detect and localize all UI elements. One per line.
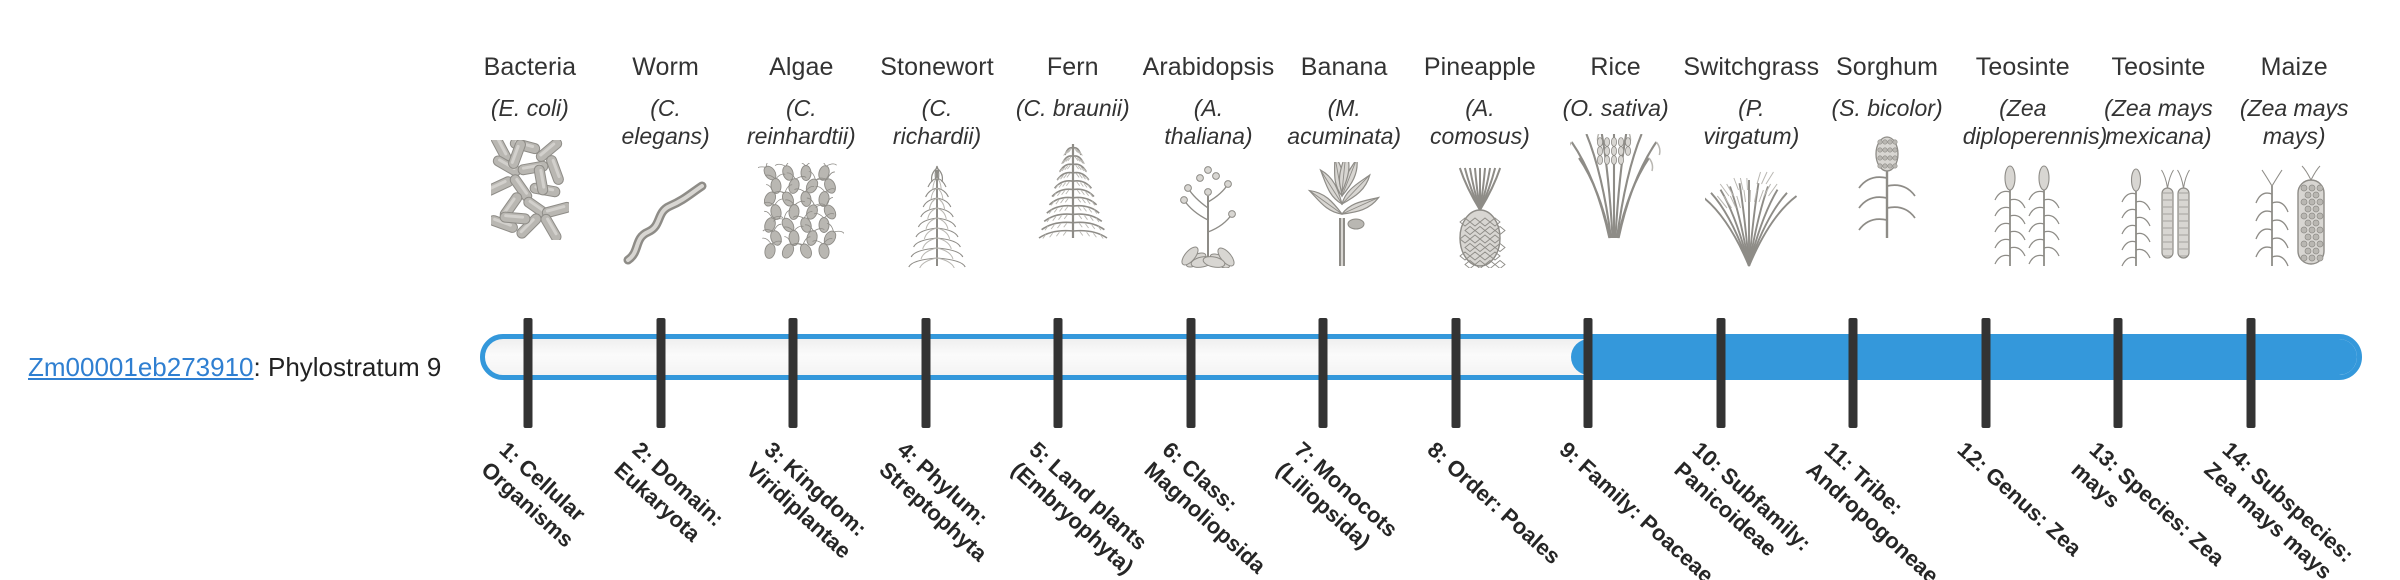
progress-track [480, 334, 2362, 380]
species-latin-name: (C. elegans) [606, 94, 726, 150]
species-column: Sorghum(S. bicolor) [1819, 52, 1955, 240]
maize-illustration [2254, 160, 2334, 268]
species-column: Worm(C. elegans) [598, 52, 734, 268]
species-latin-name: (Zea diploperennis) [1963, 94, 2083, 150]
phylostratum-rank-label: 11: Tribe: Andropogoneae [1801, 436, 1993, 580]
species-column: Teosinte(Zea mays mexicana) [2091, 52, 2227, 268]
gene-id-link[interactable]: Zm00001eb273910 [28, 352, 254, 382]
species-latin-name: (Zea mays mays) [2234, 94, 2354, 150]
phylostratum-rank-label: 1: Cellular Organisms [476, 436, 668, 580]
phylostratum-rank-label: 13: Species: Zea mays [2066, 436, 2258, 580]
species-latin-name: (C. braunii) [1016, 94, 1130, 122]
progress-fill [1571, 339, 2362, 375]
gene-label: Zm00001eb273910: Phylostratum 9 [28, 352, 441, 382]
species-common-name: Fern [1047, 52, 1099, 82]
species-column: Arabidopsis(A. thaliana) [1141, 52, 1277, 268]
pineapple-illustration [1446, 160, 1514, 268]
species-column: Algae(C. reinhardtii) [733, 52, 869, 268]
species-common-name: Pineapple [1424, 52, 1536, 82]
species-column: Switchgrass(P. virgatum) [1683, 52, 1819, 268]
species-latin-name: (S. bicolor) [1831, 94, 1942, 122]
species-common-name: Teosinte [2112, 52, 2206, 82]
species-column: Fern(C. braunii) [1005, 52, 1141, 240]
phylostratum-rank-label: 6: Class: Magnoliopsida [1139, 436, 1331, 580]
species-column: Maize(Zea mays mays) [2226, 52, 2362, 268]
phylostratum-rank-label: 4: Phylum: Streptophyta [874, 436, 1066, 580]
species-common-name: Banana [1301, 52, 1388, 82]
species-column: Teosinte(Zea diploperennis) [1955, 52, 2091, 268]
sorghum-illustration [1847, 132, 1927, 240]
species-column: Bacteria(E. coli) [462, 52, 598, 240]
species-latin-name: (C. richardii) [877, 94, 997, 150]
switchgrass-illustration [1705, 160, 1797, 268]
banana-illustration [1298, 160, 1390, 268]
species-latin-name: (M. acuminata) [1284, 94, 1404, 150]
species-common-name: Stonewort [880, 52, 993, 82]
phylostratum-progress-bar[interactable] [480, 334, 2362, 380]
species-latin-name: (Zea mays mexicana) [2098, 94, 2218, 150]
worm-illustration [618, 160, 714, 268]
teosinte-illustration [1984, 160, 2062, 268]
species-common-name: Bacteria [484, 52, 577, 82]
species-row: Bacteria(E. coli) [462, 52, 2362, 302]
phylostratum-rank-label: 7: Monocots (Liliopsida) [1271, 436, 1463, 580]
phylostratum-figure: Bacteria(E. coli) [0, 0, 2400, 580]
stonewort-illustration [905, 160, 969, 268]
species-latin-name: (O. sativa) [1563, 94, 1669, 122]
species-common-name: Teosinte [1976, 52, 2070, 82]
arabidopsis-illustration [1170, 160, 1246, 268]
algae-illustration [758, 160, 844, 268]
species-column: Banana(M. acuminata) [1276, 52, 1412, 268]
phylostratum-rank-label: 2: Domain: Eukaryota [609, 436, 801, 580]
species-latin-name: (E. coli) [491, 94, 569, 122]
species-latin-name: (C. reinhardtii) [741, 94, 861, 150]
phylostratum-rank-label: 3: Kingdom: Viridiplantae [741, 436, 933, 580]
species-common-name: Worm [632, 52, 699, 82]
species-common-name: Algae [769, 52, 833, 82]
phylostratum-rank-label: 14: Subspecies: Zea mays mays [2199, 436, 2391, 580]
fern-illustration [1033, 132, 1113, 240]
species-common-name: Rice [1590, 52, 1640, 82]
phylostratum-rank-label: 5: Land plants (Embryophyta) [1006, 436, 1198, 580]
rice-illustration [1570, 132, 1662, 240]
species-column: Pineapple(A. comosus) [1412, 52, 1548, 268]
species-common-name: Switchgrass [1683, 52, 1819, 82]
species-column: Stonewort(C. richardii) [869, 52, 1005, 268]
species-common-name: Maize [2261, 52, 2328, 82]
species-latin-name: (A. comosus) [1420, 94, 1540, 150]
teosinte-ear-illustration [2120, 160, 2196, 268]
phylostratum-text: : Phylostratum 9 [254, 352, 442, 382]
phylostratum-rank-label: 12: Genus: Zea [1952, 436, 2126, 580]
species-latin-name: (P. virgatum) [1691, 94, 1811, 150]
species-latin-name: (A. thaliana) [1148, 94, 1268, 150]
phylostratum-rank-label: 8: Order: Poales [1422, 436, 1596, 580]
species-column: Rice(O. sativa) [1548, 52, 1684, 240]
species-common-name: Arabidopsis [1143, 52, 1275, 82]
phylostratum-rank-label: 9: Family: Poaceae [1554, 436, 1728, 580]
bacteria-illustration [491, 132, 569, 240]
phylostratum-rank-label: 10: Subfamily: Panicoideae [1669, 436, 1861, 580]
species-common-name: Sorghum [1836, 52, 1938, 82]
